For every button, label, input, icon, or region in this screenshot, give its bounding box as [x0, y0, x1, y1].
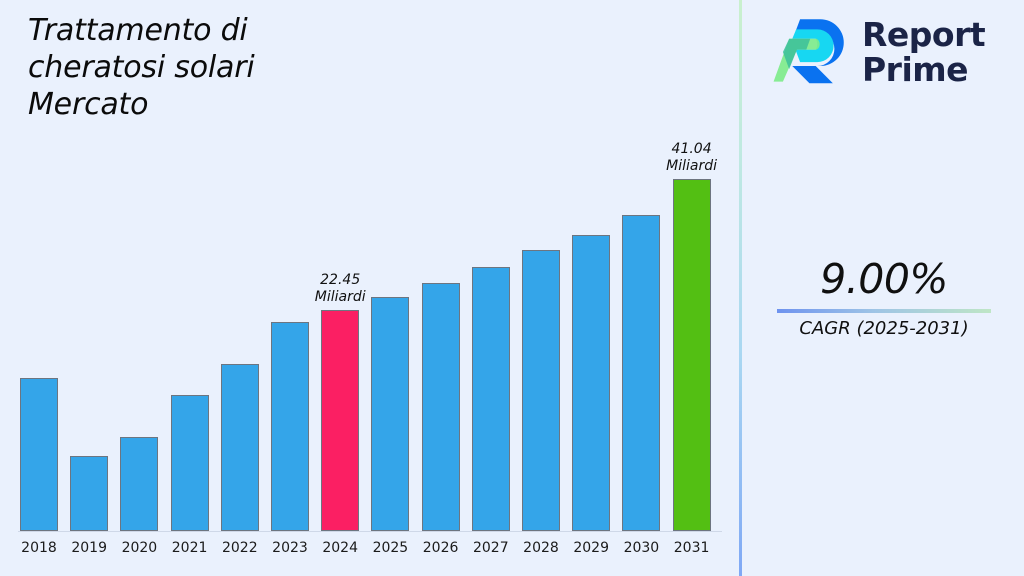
- cagr-block: 9.00% CAGR (2025-2031): [762, 255, 1006, 341]
- bar-2019: [70, 456, 108, 531]
- bar-value-label-2031: 41.04 Miliardi: [639, 141, 745, 175]
- bar-2022: [221, 364, 259, 531]
- bar-2029: [572, 235, 610, 531]
- x-tick-2031: 2031: [662, 540, 722, 556]
- x-axis-baseline: [18, 531, 722, 532]
- bar-2024: [321, 310, 359, 531]
- bar-2028: [522, 250, 560, 531]
- bar-2023: [271, 322, 309, 531]
- bar-2030: [622, 215, 660, 531]
- bar-2020: [120, 437, 158, 531]
- report-prime-logo-mark: [772, 12, 850, 92]
- bar-2025: [371, 297, 409, 531]
- bar-2021: [171, 395, 209, 531]
- brand-panel: Report Prime 9.00% CAGR (2025-2031): [742, 0, 1024, 576]
- brand-logo: Report Prime: [772, 12, 985, 92]
- bar-2031: [673, 179, 711, 531]
- cagr-caption: CAGR (2025-2031): [762, 317, 1006, 341]
- infographic-root: Trattamento di cheratosi solari Mercato …: [0, 0, 1024, 576]
- cagr-divider-rule: [777, 309, 991, 313]
- cagr-value: 9.00%: [762, 255, 1006, 303]
- brand-wordmark: Report Prime: [862, 17, 985, 87]
- bar-2026: [422, 283, 460, 531]
- bar-chart-plot-area: 22.45 Miliardi41.04 Miliardi 20182019202…: [0, 0, 740, 576]
- bar-2018: [20, 378, 58, 531]
- chart-panel: Trattamento di cheratosi solari Mercato …: [0, 0, 740, 576]
- bar-2027: [472, 267, 510, 531]
